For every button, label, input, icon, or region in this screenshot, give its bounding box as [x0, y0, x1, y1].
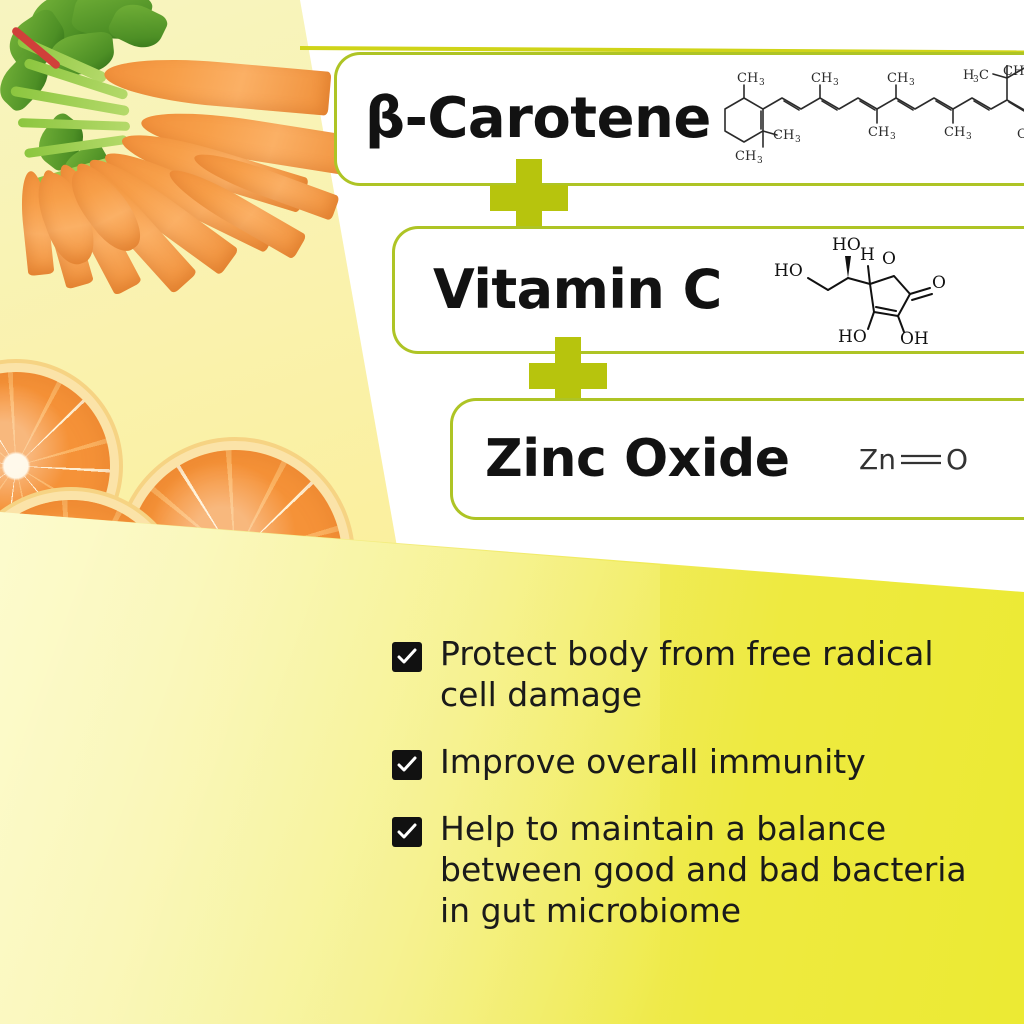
- zinc-oxide-formula-icon: Zn O: [859, 443, 968, 476]
- ingredient-name-zinc-oxide: Zinc Oxide: [485, 433, 790, 485]
- checkbox-checked-icon: [392, 750, 422, 780]
- svg-text:CH: CH: [735, 149, 756, 164]
- svg-text:H: H: [860, 245, 875, 265]
- svg-text:3: 3: [909, 78, 915, 88]
- svg-text:3: 3: [757, 156, 763, 166]
- benefit-text: Improve overall immunity: [440, 742, 866, 783]
- oxygen-symbol: O: [946, 443, 968, 476]
- svg-text:HO: HO: [832, 235, 861, 255]
- svg-text:O: O: [882, 249, 896, 269]
- infographic-canvas: β-Carotene: [0, 0, 1024, 1024]
- svg-text:CH: CH: [1003, 65, 1024, 79]
- benefit-text: Protect body from free radical cell dama…: [440, 634, 980, 716]
- benefits-list: Protect body from free radical cell dama…: [392, 634, 980, 931]
- svg-text:3: 3: [966, 132, 972, 142]
- ingredient-card-zinc-oxide[interactable]: Zinc Oxide Zn O: [450, 398, 1024, 520]
- svg-text:CH: CH: [773, 128, 794, 143]
- svg-text:CH: CH: [944, 125, 965, 140]
- zinc-symbol: Zn: [859, 443, 896, 476]
- checkbox-checked-icon: [392, 817, 422, 847]
- svg-text:OH: OH: [900, 329, 929, 346]
- svg-text:3: 3: [795, 135, 801, 145]
- benefit-item: Improve overall immunity: [392, 742, 980, 783]
- ascorbic-acid-structure-icon: HO H O HO O HO OH: [772, 234, 962, 346]
- ingredient-card-beta-carotene[interactable]: β-Carotene: [334, 52, 1024, 186]
- ingredient-name-vitamin-c: Vitamin C: [433, 263, 722, 317]
- svg-text:3: 3: [890, 132, 896, 142]
- svg-text:HO: HO: [774, 261, 803, 281]
- ingredient-card-vitamin-c[interactable]: Vitamin C: [392, 226, 1024, 354]
- benefit-item: Protect body from free radical cell dama…: [392, 634, 980, 716]
- svg-text:3: 3: [833, 78, 839, 88]
- ingredient-name-beta-carotene: β-Carotene: [365, 91, 711, 147]
- svg-text:O: O: [932, 273, 946, 293]
- svg-text:C: C: [979, 68, 989, 83]
- svg-text:CH: CH: [887, 71, 908, 86]
- checkbox-checked-icon: [392, 642, 422, 672]
- svg-text:3: 3: [759, 78, 765, 88]
- svg-text:CH: CH: [811, 71, 832, 86]
- benefit-text: Help to maintain a balance between good …: [440, 809, 980, 932]
- benefit-item: Help to maintain a balance between good …: [392, 809, 980, 932]
- svg-text:CH: CH: [737, 71, 758, 86]
- svg-text:CH: CH: [868, 125, 889, 140]
- svg-text:CH: CH: [1017, 127, 1024, 142]
- svg-text:HO: HO: [838, 327, 867, 346]
- beta-carotene-structure-icon: CH3 CH3 CH3 CH3 CH3 CH3 CH3 H3C CH CH3 C…: [711, 65, 1024, 173]
